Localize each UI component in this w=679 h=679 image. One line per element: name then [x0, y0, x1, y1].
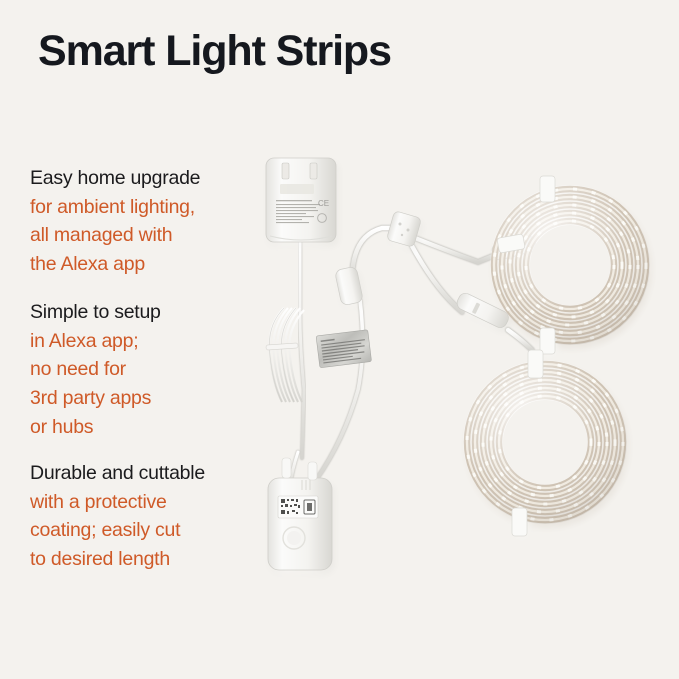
feature-line: the Alexa app	[30, 250, 265, 279]
product-feature-page: Smart Light Strips Easy home upgrade for…	[0, 0, 679, 679]
feature-line: coating; easily cut	[30, 516, 265, 545]
feature-block-simple-to-setup: Simple to setup in Alexa app; no need fo…	[30, 298, 265, 442]
spec-label-tag	[316, 330, 372, 368]
feature-line: all managed with	[30, 221, 265, 250]
qr-code-sticker	[278, 496, 318, 518]
controller-box	[268, 478, 332, 570]
feature-line: or hubs	[30, 413, 265, 442]
feature-block-easy-home-upgrade: Easy home upgrade for ambient lighting, …	[30, 164, 265, 279]
feature-line: 3rd party apps	[30, 384, 265, 413]
svg-text:CE: CE	[318, 199, 329, 208]
feature-line: Durable and cuttable	[30, 459, 265, 488]
feature-line: Easy home upgrade	[30, 164, 265, 193]
product-photo: CE	[240, 140, 679, 610]
feature-line: Simple to setup	[30, 298, 265, 327]
feature-line: for ambient lighting,	[30, 193, 265, 222]
power-adapter: CE	[266, 158, 336, 242]
feature-line: no need for	[30, 355, 265, 384]
page-title: Smart Light Strips	[38, 28, 391, 75]
feature-line: with a protective	[30, 488, 265, 517]
feature-line: to desired length	[30, 545, 265, 574]
feature-block-durable-and-cuttable: Durable and cuttable with a protective c…	[30, 459, 265, 574]
feature-line: in Alexa app;	[30, 327, 265, 356]
